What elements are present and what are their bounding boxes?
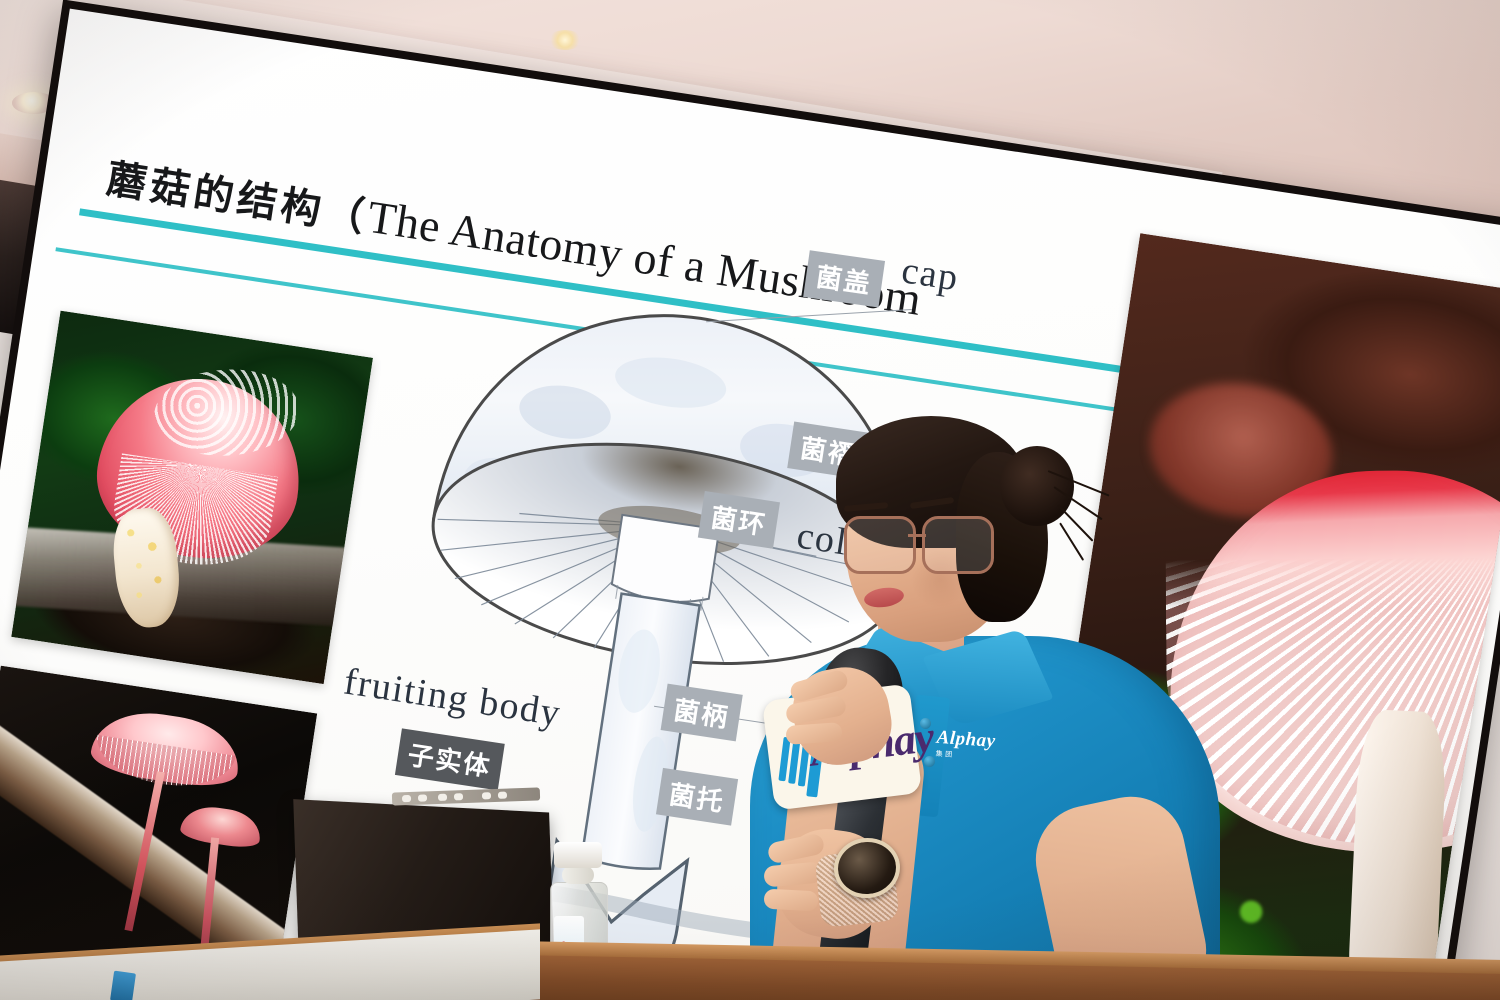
shirt-logo: Alphay 集团 (935, 727, 1030, 773)
presenter: Alphay 集团 (760, 400, 1280, 1000)
glasses-icon (844, 516, 994, 568)
label-en-cap: cap (899, 248, 962, 300)
slide-title-paren: （ (321, 189, 371, 241)
downlight-icon (548, 30, 582, 50)
glasses-bridge (908, 534, 926, 537)
blue-pen (110, 971, 136, 1000)
glasses-lens-right (922, 516, 994, 574)
screenshot-root: 蘑菇的结构（The Anatomy of a Mushroom (0, 0, 1500, 1000)
bottle-neck (562, 866, 594, 884)
finger (764, 889, 819, 912)
photo-stem-droplets (110, 508, 183, 626)
bottle-cap (554, 842, 602, 868)
finger (785, 722, 842, 745)
presenter-hair-bun (1000, 446, 1074, 526)
glasses-lens-left (844, 516, 916, 574)
photo-pink-mushroom-mossy-log (11, 311, 373, 685)
